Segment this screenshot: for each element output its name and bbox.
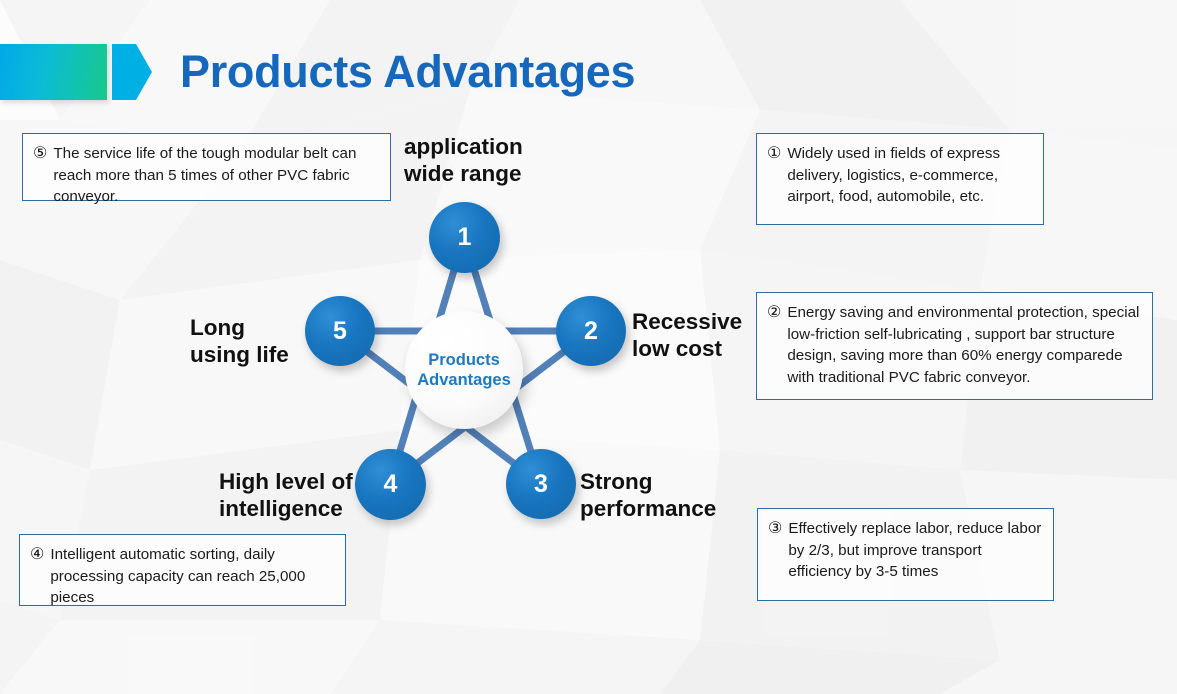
node-label-3-line1: Strong — [580, 468, 716, 495]
node-circle-2[interactable]: 2 — [556, 296, 626, 366]
node-circle-1[interactable]: 1 — [429, 202, 500, 273]
center-hub: Products Advantages — [405, 311, 523, 429]
callout-3-text: Effectively replace labor, reduce labor … — [788, 518, 1042, 583]
node-circle-3[interactable]: 3 — [506, 449, 576, 519]
node-label-1-line1: application — [404, 133, 523, 160]
slide-canvas: Products Advantages Products Advantages … — [0, 0, 1177, 694]
callout-4-text: Intelligent automatic sorting, daily pro… — [50, 544, 334, 609]
callout-2-text: Energy saving and environmental protecti… — [787, 302, 1141, 388]
callout-5-marker: ⑤ — [33, 143, 53, 166]
node-label-4: High level of intelligence — [219, 468, 371, 523]
node-circle-5[interactable]: 5 — [305, 296, 375, 366]
node-label-1: application wide range — [404, 133, 523, 188]
node-label-5: Long using life — [190, 314, 315, 369]
hub-label-line2: Advantages — [417, 370, 511, 390]
callout-box-5: ⑤ The service life of the tough modular … — [22, 133, 391, 201]
hub-label-line1: Products — [428, 350, 500, 370]
callout-box-3: ③ Effectively replace labor, reduce labo… — [757, 508, 1054, 601]
node-label-5-line2: using life — [190, 341, 315, 368]
node-label-4-line2: intelligence — [219, 495, 371, 522]
gradient-bar-shape — [0, 44, 107, 100]
callout-4-marker: ④ — [30, 544, 50, 567]
callout-1-marker: ① — [767, 143, 787, 166]
node-label-2-line2: low cost — [632, 335, 742, 362]
node-label-4-line1: High level of — [219, 468, 371, 495]
node-label-5-line1: Long — [190, 314, 315, 341]
callout-3-marker: ③ — [768, 518, 788, 541]
node-label-2: Recessive low cost — [632, 308, 742, 363]
node-label-1-line2: wide range — [404, 160, 523, 187]
callout-2-marker: ② — [767, 302, 787, 325]
page-title: Products Advantages — [180, 46, 635, 98]
node-label-3-line2: performance — [580, 495, 716, 522]
callout-box-4: ④ Intelligent automatic sorting, daily p… — [19, 534, 346, 606]
callout-box-2: ② Energy saving and environmental protec… — [756, 292, 1153, 400]
callout-box-1: ① Widely used in fields of express deliv… — [756, 133, 1044, 225]
node-label-2-line1: Recessive — [632, 308, 742, 335]
callout-1-text: Widely used in fields of express deliver… — [787, 143, 1032, 208]
callout-5-text: The service life of the tough modular be… — [53, 143, 379, 208]
node-label-3: Strong performance — [580, 468, 716, 523]
